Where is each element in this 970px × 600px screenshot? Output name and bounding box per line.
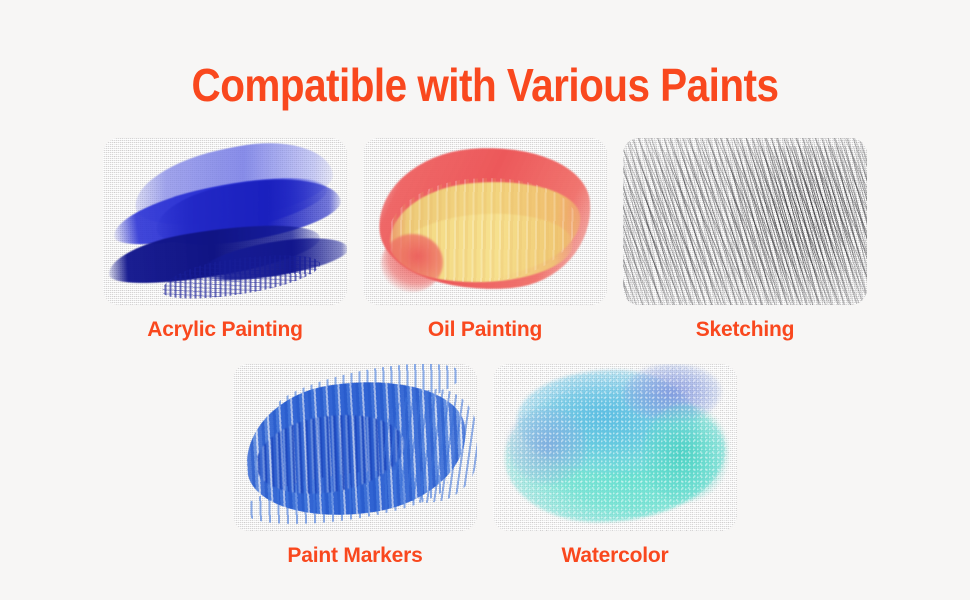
promo-banner: Compatible with Various Paints Acrylic P… xyxy=(0,0,970,600)
sketching-pencil-swatch xyxy=(623,138,867,305)
paint-marker-swatch xyxy=(233,364,477,531)
swatch-label-paint-markers: Paint Markers xyxy=(287,543,422,569)
swatch-label-oil: Oil Painting xyxy=(428,317,542,343)
swatch-card-sketching xyxy=(623,138,867,305)
swatch-label-watercolor: Watercolor xyxy=(562,543,669,569)
swatch-cell-watercolor: Watercolor xyxy=(493,364,737,569)
swatch-cell-oil: Oil Painting xyxy=(363,138,607,343)
swatch-cell-acrylic: Acrylic Painting xyxy=(103,138,347,343)
swatch-label-acrylic: Acrylic Painting xyxy=(147,317,303,343)
swatch-row-top: Acrylic Painting Oil Painting xyxy=(0,138,970,343)
swatch-cell-sketching: Sketching xyxy=(623,138,867,343)
page-title: Compatible with Various Paints xyxy=(58,58,912,112)
swatch-card-oil xyxy=(363,138,607,305)
swatch-row-bottom: Paint Markers Watercolor xyxy=(0,364,970,569)
swatch-card-watercolor xyxy=(493,364,737,531)
swatch-card-paint-markers xyxy=(233,364,477,531)
acrylic-paint-swatch xyxy=(103,138,347,305)
oil-paint-swatch xyxy=(363,138,607,305)
swatch-label-sketching: Sketching xyxy=(696,317,795,343)
watercolor-swatch xyxy=(493,364,737,531)
swatch-cell-paint-markers: Paint Markers xyxy=(233,364,477,569)
swatch-card-acrylic xyxy=(103,138,347,305)
